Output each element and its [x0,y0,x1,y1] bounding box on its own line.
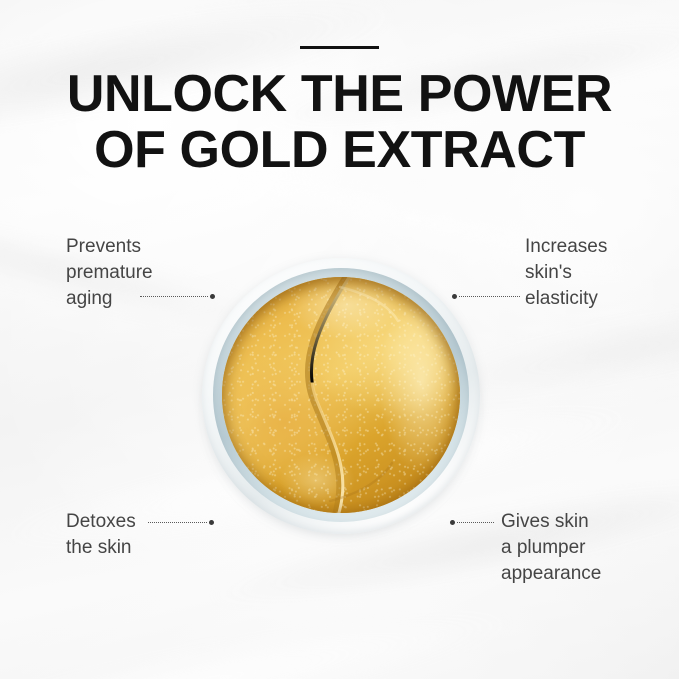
callout-increases-skins-elasticity: Increases skin's elasticity [525,234,665,312]
callout-gives-skin-a-plumper-appearance: Gives skin a plumper appearance [501,509,661,587]
leader-endpoint-dot [209,520,214,525]
leader-endpoint-dot [210,294,215,299]
page-title: UNLOCK THE POWER OF GOLD EXTRACT [0,66,679,178]
leader-endpoint-dot [452,294,457,299]
leader-dashes [459,296,520,297]
leader-line-increases-skins-elasticity [452,292,520,301]
product-image-gold-eye-patch-jar [200,255,482,537]
header-divider-rule [300,46,379,49]
infographic-poster: UNLOCK THE POWER OF GOLD EXTRACT [0,0,679,679]
jar-gel-well [222,277,460,513]
leader-line-gives-skin-a-plumper-appearance [450,518,494,527]
leader-dashes [457,522,494,523]
leader-endpoint-dot [450,520,455,525]
gel-meniscus-edge [222,277,460,513]
leader-dashes [148,522,207,523]
callout-detoxes-the-skin: Detoxes the skin [66,509,206,561]
leader-line-prevents-premature-aging [140,292,215,301]
leader-line-detoxes-the-skin [148,518,214,527]
leader-dashes [140,296,208,297]
